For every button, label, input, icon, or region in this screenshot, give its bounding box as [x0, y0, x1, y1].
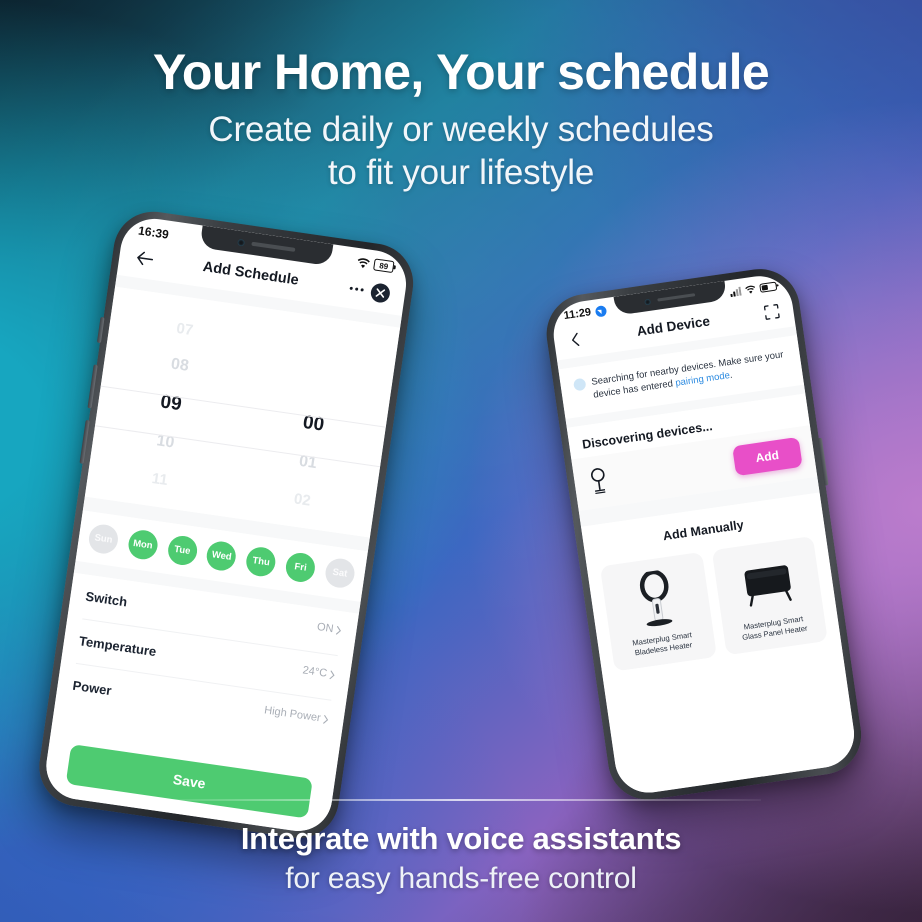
tip-text-after: . [729, 370, 733, 381]
battery-icon: 89 [373, 258, 395, 273]
setting-label: Temperature [78, 633, 157, 659]
setting-value-text: High Power [263, 704, 321, 724]
battery-icon [759, 281, 777, 292]
status-icons [729, 281, 777, 297]
signal-icon [729, 286, 741, 296]
day-label: Thu [252, 555, 271, 568]
scan-qr-icon[interactable] [762, 302, 781, 321]
day-chip-wed[interactable]: Wed [205, 540, 238, 573]
chevron-right-icon [323, 714, 329, 724]
day-label: Sun [94, 532, 113, 545]
status-time: 11:29 [563, 306, 592, 322]
chevron-right-icon [329, 670, 335, 680]
setting-value: 24°C [302, 664, 336, 681]
chevron-right-icon [336, 625, 342, 635]
day-chip-tue[interactable]: Tue [166, 534, 199, 567]
footer-divider [161, 799, 761, 801]
day-label: Tue [173, 544, 191, 557]
page-title: Your Home, Your schedule [0, 46, 922, 99]
subtitle-line-1: Create daily or weekly schedules [0, 109, 922, 152]
wifi-icon [744, 284, 756, 294]
earpiece-speaker [251, 242, 295, 252]
setting-value: ON [316, 621, 342, 636]
headline-block: Your Home, Your schedule Create daily or… [0, 46, 922, 194]
wifi-icon [356, 256, 370, 269]
picker-minute[interactable]: 02 [293, 490, 312, 509]
page-subtitle: Create daily or weekly schedules to fit … [0, 109, 922, 194]
day-chip-thu[interactable]: Thu [245, 545, 278, 578]
day-chip-sun[interactable]: Sun [87, 523, 120, 556]
product-card[interactable]: Masterplug Smart Glass Panel Heater [711, 536, 828, 655]
setting-value: High Power [263, 704, 329, 725]
more-options-icon[interactable] [346, 278, 367, 300]
subtitle-line-2: to fit your lifestyle [0, 152, 922, 195]
add-device-button[interactable]: Add [732, 437, 803, 476]
battery-fill [761, 284, 768, 290]
battery-level: 89 [379, 261, 389, 271]
product-card[interactable]: Masterplug Smart Bladeless Heater [600, 552, 717, 671]
day-chip-fri[interactable]: Fri [284, 551, 317, 584]
setting-value-text: ON [316, 621, 334, 635]
bulb-icon [586, 465, 612, 496]
front-camera-icon [644, 298, 651, 305]
footer-subtitle: for easy hands-free control [0, 862, 922, 896]
status-icons: 89 [356, 256, 394, 273]
picker-hour[interactable]: 07 [175, 319, 194, 338]
status-time: 16:39 [137, 223, 169, 241]
picker-hour[interactable]: 11 [151, 469, 169, 488]
setting-value-text: 24°C [302, 664, 328, 679]
day-label: Mon [132, 538, 153, 552]
info-icon [573, 378, 587, 392]
day-label: Wed [211, 549, 232, 563]
day-label: Fri [294, 561, 308, 574]
picker-minute [319, 377, 326, 395]
picker-hour[interactable]: 08 [170, 356, 190, 376]
location-icon [594, 305, 606, 317]
close-icon[interactable] [370, 282, 392, 304]
glass-panel-heater-icon [738, 551, 798, 616]
product-name: Masterplug Smart Bladeless Heater [632, 630, 694, 658]
day-label: Sat [332, 567, 348, 580]
time-picker[interactable]: 07 08 09 00 10 01 11 02 [85, 287, 400, 538]
setting-label: Power [72, 678, 113, 698]
setting-label: Switch [85, 589, 129, 610]
footer-block: Integrate with voice assistants for easy… [0, 799, 922, 896]
day-chip-mon[interactable]: Mon [126, 528, 159, 561]
picker-minute [324, 341, 331, 358]
earpiece-speaker [657, 293, 695, 302]
product-name: Masterplug Smart Glass Panel Heater [740, 614, 808, 643]
footer-title: Integrate with voice assistants [0, 821, 922, 857]
front-camera-icon [237, 238, 245, 246]
bladeless-heater-icon [632, 568, 682, 631]
day-chip-sat[interactable]: Sat [324, 557, 357, 590]
